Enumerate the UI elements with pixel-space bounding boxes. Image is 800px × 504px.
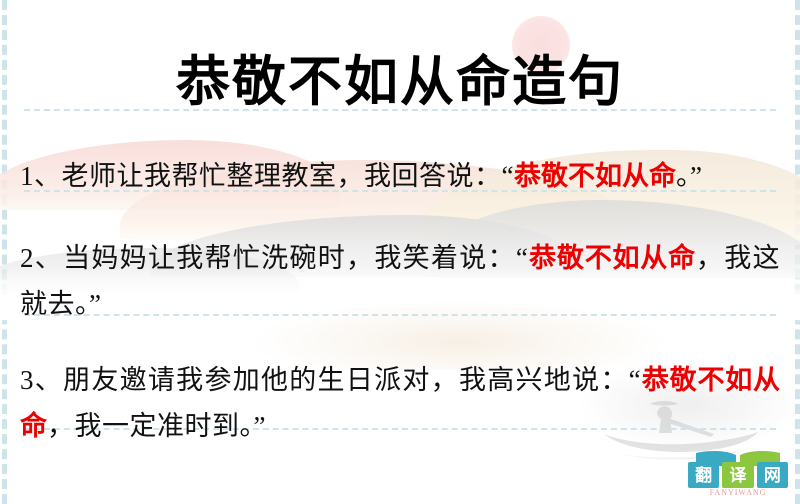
sentence-3-text-after: ，我一定准时到。” (47, 411, 266, 441)
sentence-1-text-before: 1、老师让我帮忙整理教室，我回答说：“ (20, 161, 514, 191)
logo-character-tiles: 翻 译 网 (688, 462, 788, 488)
logo-tile-fan: 翻 (688, 462, 719, 488)
site-watermark-logo: 翻 译 网 FANYIWANG (686, 450, 790, 500)
logo-tile-wang: 网 (757, 462, 788, 488)
page-title: 恭敬不如从命造句 (0, 52, 800, 112)
page-root: 恭敬不如从命造句 1、老师让我帮忙整理教室，我回答说：“恭敬不如从命。” 2、当… (0, 0, 800, 504)
example-sentence-3: 3、朋友邀请我参加他的生日派对，我高兴地说：“恭敬不如从命，我一定准时到。” (20, 357, 780, 449)
sentence-1-text-after: 。” (676, 161, 702, 191)
sentence-2-idiom-highlight: 恭敬不如从命 (528, 243, 696, 273)
divider-top (24, 109, 776, 111)
logo-tile-yi: 译 (722, 462, 753, 488)
sentence-2-text-before: 2、当妈妈让我帮忙洗碗时，我笑着说：“ (20, 243, 528, 273)
logo-subtitle: FANYIWANG (686, 488, 790, 497)
example-sentence-2: 2、当妈妈让我帮忙洗碗时，我笑着说：“恭敬不如从命，我这就去。” (20, 235, 780, 327)
sentence-1-idiom-highlight: 恭敬不如从命 (514, 161, 676, 191)
example-sentence-1: 1、老师让我帮忙整理教室，我回答说：“恭敬不如从命。” (20, 153, 780, 199)
sentence-3-text-before: 3、朋友邀请我参加他的生日派对，我高兴地说：“ (20, 365, 641, 395)
content-layer: 恭敬不如从命造句 1、老师让我帮忙整理教室，我回答说：“恭敬不如从命。” 2、当… (0, 0, 800, 504)
